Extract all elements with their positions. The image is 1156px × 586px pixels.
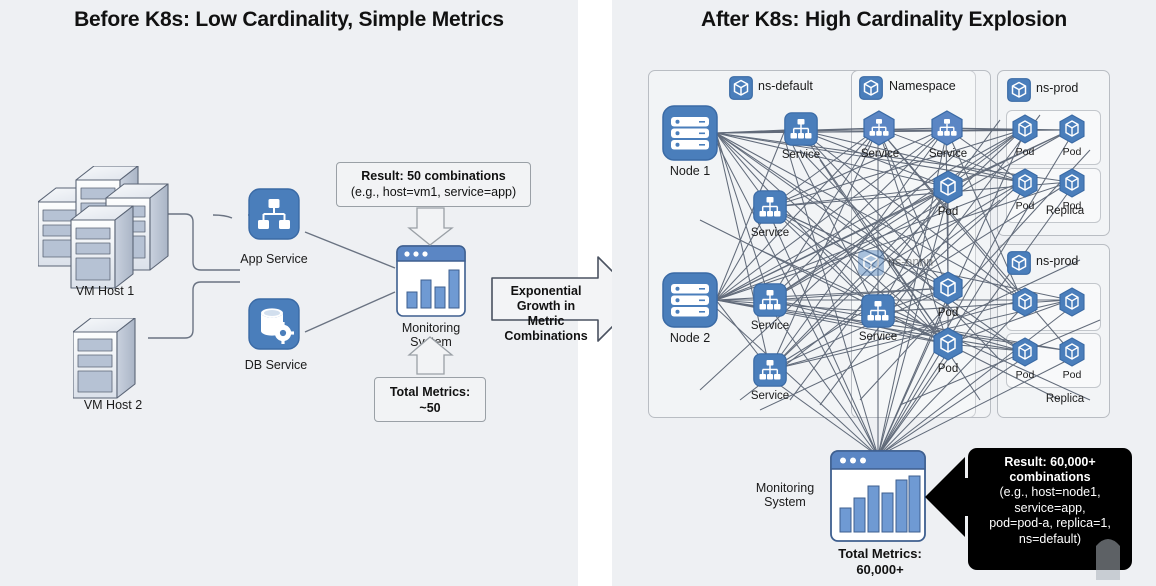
diagram-canvas: Before K8s: Low Cardinality, Simple Metr…: [0, 0, 1156, 586]
corner-decoration: [0, 0, 1156, 586]
